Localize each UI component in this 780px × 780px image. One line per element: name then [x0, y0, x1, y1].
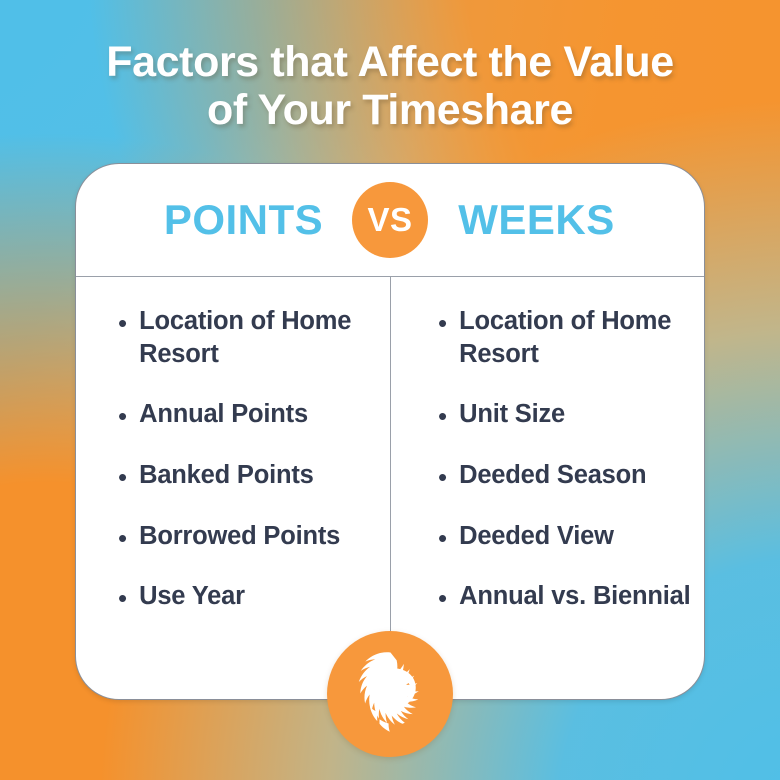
list-item-label: Deeded View	[459, 520, 614, 553]
list-item-label: Deeded Season	[459, 459, 646, 492]
list-item: • Deeded Season	[438, 459, 692, 492]
column-heading-weeks: WEEKS	[434, 196, 639, 244]
list-item: • Annual Points	[118, 398, 368, 431]
list-item-label: Annual Points	[139, 398, 308, 431]
bullet-icon: •	[118, 585, 127, 611]
page-title-line-1: Factors that Affect the Value	[48, 38, 732, 86]
bullet-icon: •	[438, 525, 447, 551]
list-item-label: Use Year	[139, 580, 245, 613]
list-item-label: Banked Points	[139, 459, 314, 492]
list-item-label: Borrowed Points	[139, 520, 340, 553]
list-item: • Borrowed Points	[118, 520, 368, 553]
page-title-line-2: of Your Timeshare	[48, 86, 732, 134]
comparison-card: POINTS VS WEEKS • Location of Home Resor…	[75, 163, 705, 700]
brand-logo-badge	[327, 631, 453, 757]
bullet-icon: •	[118, 525, 127, 551]
column-heading-points: POINTS	[141, 196, 346, 244]
list-item: • Deeded View	[438, 520, 692, 553]
weeks-column: • Location of Home Resort • Unit Size • …	[390, 277, 704, 701]
list-item: • Annual vs. Biennial	[438, 580, 692, 613]
bullet-icon: •	[438, 585, 447, 611]
comparison-header: POINTS VS WEEKS	[76, 164, 704, 276]
page-title: Factors that Affect the Value of Your Ti…	[0, 38, 780, 134]
bullet-icon: •	[438, 310, 447, 336]
list-item-label: Unit Size	[459, 398, 565, 431]
bullet-icon: •	[438, 403, 447, 429]
vs-badge: VS	[352, 182, 428, 258]
infographic-poster: Factors that Affect the Value of Your Ti…	[0, 0, 780, 780]
list-item-label: Annual vs. Biennial	[459, 580, 690, 613]
list-item-label: Location of Home Resort	[139, 305, 368, 370]
list-item: • Location of Home Resort	[118, 305, 368, 370]
bullet-icon: •	[118, 403, 127, 429]
bullet-icon: •	[438, 464, 447, 490]
list-item: • Unit Size	[438, 398, 692, 431]
list-item: • Use Year	[118, 580, 368, 613]
lion-head-icon	[340, 644, 440, 744]
bullet-icon: •	[118, 464, 127, 490]
list-item: • Location of Home Resort	[438, 305, 692, 370]
list-item-label: Location of Home Resort	[459, 305, 692, 370]
list-item: • Banked Points	[118, 459, 368, 492]
points-column: • Location of Home Resort • Annual Point…	[76, 277, 390, 701]
bullet-icon: •	[118, 310, 127, 336]
